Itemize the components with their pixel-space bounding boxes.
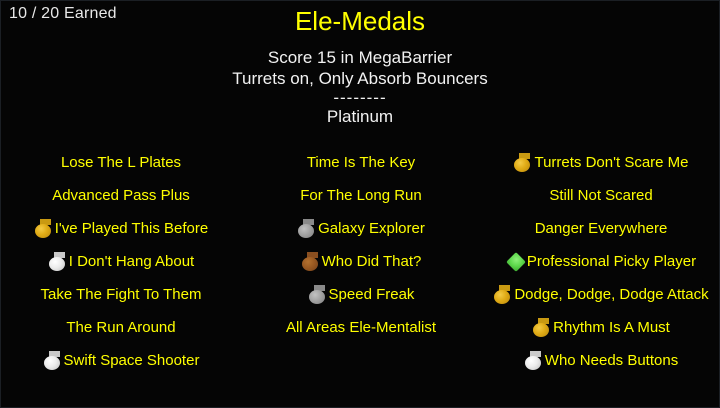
- medal-gold-icon: [513, 152, 534, 174]
- medal-gold-icon: [493, 284, 514, 306]
- medal-label: Professional Picky Player: [527, 253, 696, 271]
- medal-row[interactable]: I've Played This Before: [1, 212, 241, 245]
- medal-row[interactable]: Time Is The Key: [241, 146, 481, 179]
- medal-requirement-block: Score 15 in MegaBarrier Turrets on, Only…: [1, 47, 719, 127]
- medal-label: Rhythm Is A Must: [553, 319, 670, 337]
- medal-label: Who Did That?: [322, 253, 422, 271]
- medal-label: Lose The L Plates: [61, 154, 181, 172]
- medal-row[interactable]: All Areas Ele-Mentalist: [241, 311, 481, 344]
- medal-silver-icon: [48, 251, 69, 273]
- medal-row[interactable]: Speed Freak: [241, 278, 481, 311]
- medal-row[interactable]: Take The Fight To Them: [1, 278, 241, 311]
- medal-row[interactable]: Dodge, Dodge, Dodge Attack: [481, 278, 720, 311]
- medal-label: Speed Freak: [329, 286, 415, 304]
- medal-row[interactable]: Swift Space Shooter: [1, 344, 241, 377]
- medal-label: The Run Around: [66, 319, 175, 337]
- medal-row[interactable]: Still Not Scared: [481, 179, 720, 212]
- medal-label: Danger Everywhere: [535, 220, 668, 238]
- medal-row[interactable]: Turrets Don't Scare Me: [481, 146, 720, 179]
- medal-row[interactable]: Danger Everywhere: [481, 212, 720, 245]
- medal-row[interactable]: Lose The L Plates: [1, 146, 241, 179]
- medal-silver-icon: [43, 350, 64, 372]
- medal-label: Swift Space Shooter: [64, 352, 200, 370]
- requirement-line-2: Turrets on, Only Absorb Bouncers: [1, 68, 719, 89]
- separator-rule: --------: [1, 89, 719, 106]
- medal-label: Time Is The Key: [307, 154, 415, 172]
- column-1: Lose The L PlatesAdvanced Pass PlusI've …: [1, 146, 241, 377]
- medal-row[interactable]: Rhythm Is A Must: [481, 311, 720, 344]
- medal-label: I Don't Hang About: [69, 253, 194, 271]
- column-2: Time Is The KeyFor The Long RunGalaxy Ex…: [241, 146, 481, 377]
- medal-label: Advanced Pass Plus: [52, 187, 190, 205]
- page-title: Ele-Medals: [1, 5, 719, 37]
- medal-row[interactable]: For The Long Run: [241, 179, 481, 212]
- medal-row[interactable]: Professional Picky Player: [481, 245, 720, 278]
- medal-gold-icon: [34, 218, 55, 240]
- medal-silver-icon: [524, 350, 545, 372]
- medal-bronze-icon: [301, 251, 322, 273]
- gem-green-icon: [506, 251, 527, 273]
- medal-label: Take The Fight To Them: [41, 286, 202, 304]
- medal-label: Dodge, Dodge, Dodge Attack: [514, 286, 708, 304]
- medal-grid: Lose The L PlatesAdvanced Pass PlusI've …: [1, 146, 720, 377]
- medal-row[interactable]: [241, 344, 481, 377]
- column-3: Turrets Don't Scare MeStill Not ScaredDa…: [481, 146, 720, 377]
- medal-row[interactable]: Galaxy Explorer: [241, 212, 481, 245]
- medal-label: Still Not Scared: [549, 187, 652, 205]
- medal-row[interactable]: The Run Around: [1, 311, 241, 344]
- medal-label: Turrets Don't Scare Me: [534, 154, 688, 172]
- medal-label: For The Long Run: [300, 187, 421, 205]
- medal-gold-icon: [532, 317, 553, 339]
- requirement-line-1: Score 15 in MegaBarrier: [1, 47, 719, 68]
- medal-row[interactable]: Advanced Pass Plus: [1, 179, 241, 212]
- medal-grey-icon: [297, 218, 318, 240]
- medal-label: Who Needs Buttons: [545, 352, 678, 370]
- medal-row[interactable]: I Don't Hang About: [1, 245, 241, 278]
- ele-medals-screen: 10 / 20 Earned Ele-Medals Score 15 in Me…: [0, 0, 720, 408]
- medal-label: I've Played This Before: [55, 220, 209, 238]
- medal-label: All Areas Ele-Mentalist: [286, 319, 436, 337]
- medal-row[interactable]: Who Needs Buttons: [481, 344, 720, 377]
- medal-grey-icon: [308, 284, 329, 306]
- tier-label: Platinum: [1, 106, 719, 127]
- medal-label: Galaxy Explorer: [318, 220, 425, 238]
- medal-row[interactable]: Who Did That?: [241, 245, 481, 278]
